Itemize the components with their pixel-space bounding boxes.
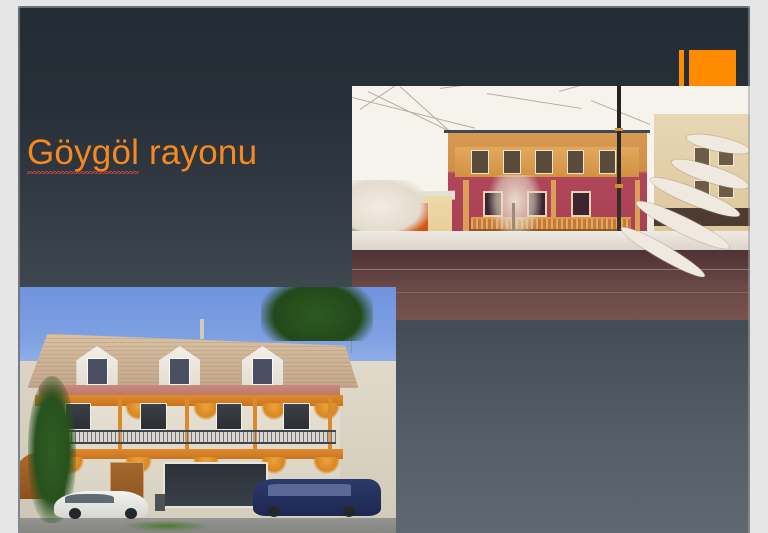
street-lamp-post bbox=[617, 86, 621, 240]
winter-gallery-window bbox=[535, 150, 553, 173]
blue-van-window bbox=[268, 484, 351, 496]
winter-gallery-window bbox=[471, 150, 489, 173]
roof-spire bbox=[200, 319, 204, 339]
upper-window bbox=[140, 403, 166, 430]
winter-gallery-window bbox=[599, 150, 617, 173]
upper-window bbox=[216, 403, 242, 430]
slide-right-edge bbox=[748, 6, 750, 533]
slide-title-misspelled-word: Göygöl bbox=[27, 133, 139, 174]
balcony-railing bbox=[43, 430, 336, 445]
slide-left-edge bbox=[18, 6, 20, 533]
lamp-post-band bbox=[615, 128, 622, 131]
summer-foliage-tree bbox=[261, 287, 374, 341]
dormer-window-glass bbox=[169, 358, 190, 385]
street-bin bbox=[155, 494, 165, 511]
road-marking bbox=[352, 292, 750, 293]
winter-pink-window bbox=[571, 191, 591, 217]
presentation-page: Göygöl rayonu bbox=[0, 0, 768, 533]
dormer-window-glass bbox=[252, 358, 273, 385]
grass-patch bbox=[125, 521, 208, 531]
dormer-window-glass bbox=[87, 358, 108, 385]
slide-title[interactable]: Göygöl rayonu bbox=[27, 131, 357, 175]
van-wheel bbox=[268, 506, 280, 517]
slide-canvas: Göygöl rayonu bbox=[18, 6, 750, 533]
carved-bracket bbox=[313, 403, 339, 420]
summer-street-photo bbox=[20, 287, 396, 533]
winter-gallery-window bbox=[503, 150, 521, 173]
winter-porch-post bbox=[463, 180, 468, 234]
winter-gallery-window bbox=[567, 150, 585, 173]
slide-title-rest: rayonu bbox=[139, 133, 257, 172]
upper-window bbox=[283, 403, 309, 430]
white-car-window bbox=[65, 494, 114, 504]
carved-bracket bbox=[313, 457, 339, 474]
winter-street-photo bbox=[352, 86, 750, 320]
lamp-post-band bbox=[615, 184, 622, 187]
slide-top-edge bbox=[18, 6, 750, 8]
